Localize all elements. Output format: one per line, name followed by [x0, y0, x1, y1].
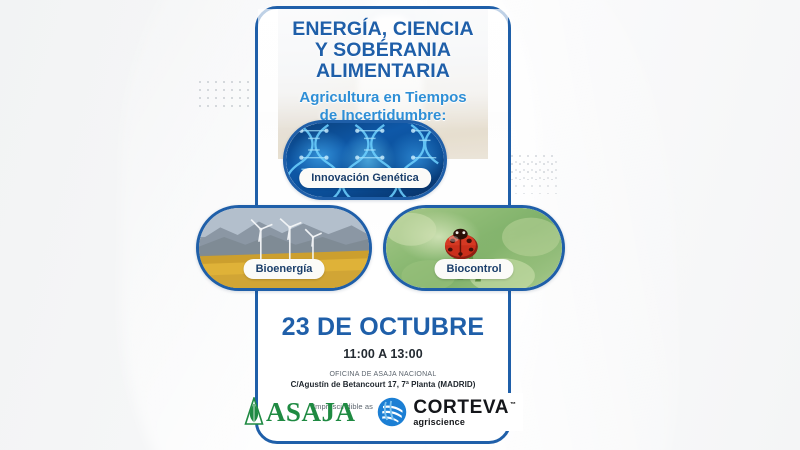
topic-label-genetica: Innovación Genética — [299, 168, 431, 188]
title-line-1: ENERGÍA, CIENCIA — [268, 19, 498, 40]
poster-canvas: ENERGÍA, CIENCIA Y SOBÉRANIA ALIMENTARIA… — [0, 0, 800, 450]
topic-card-bioenergia[interactable]: Bioenergía — [196, 205, 372, 291]
page-title: ENERGÍA, CIENCIA Y SOBÉRANIA ALIMENTARIA — [268, 19, 498, 82]
event-time: 11:00 A 13:00 — [258, 347, 508, 361]
sponsor-logos-row: ASAJA CORTEVA™ — [234, 389, 532, 435]
venue-office-name: OFICINA DE ASAJA NACIONAL — [258, 370, 508, 379]
topic-card-biocontrol[interactable]: Biocontrol — [383, 205, 565, 291]
corteva-swirl-icon — [377, 397, 407, 427]
topic-label-biocontrol: Biocontrol — [435, 259, 514, 279]
ladybug-body — [445, 229, 478, 259]
event-date: 23 DE OCTUBRE — [258, 315, 508, 340]
corteva-wordmark: CORTEVA — [413, 398, 509, 417]
corteva-text-block: CORTEVA™ agriscience — [413, 398, 516, 427]
title-line-3: ALIMENTARIA — [268, 61, 498, 82]
title-line-2: Y SOBÉRANIA — [268, 40, 498, 61]
corteva-logo: CORTEVA™ agriscience — [373, 393, 523, 431]
subtitle-line-1: Agricultura en Tiempos — [268, 89, 498, 107]
topic-label-bioenergia: Bioenergía — [244, 259, 325, 279]
corteva-trademark-symbol: ™ — [510, 402, 516, 408]
headline-block: ENERGÍA, CIENCIA Y SOBÉRANIA ALIMENTARIA… — [258, 19, 508, 125]
dot-grid-pattern-left — [196, 78, 252, 110]
corteva-tagline: agriscience — [413, 418, 516, 427]
asaja-logo: ASAJA — [243, 397, 356, 427]
dna-helix-illustration — [286, 123, 444, 200]
asaja-leaf-icon — [243, 397, 265, 427]
topic-card-genetica[interactable]: Innovación Genética — [283, 120, 447, 200]
asaja-wordmark: ASAJA — [266, 399, 356, 426]
dot-grid-pattern-right — [508, 152, 556, 180]
